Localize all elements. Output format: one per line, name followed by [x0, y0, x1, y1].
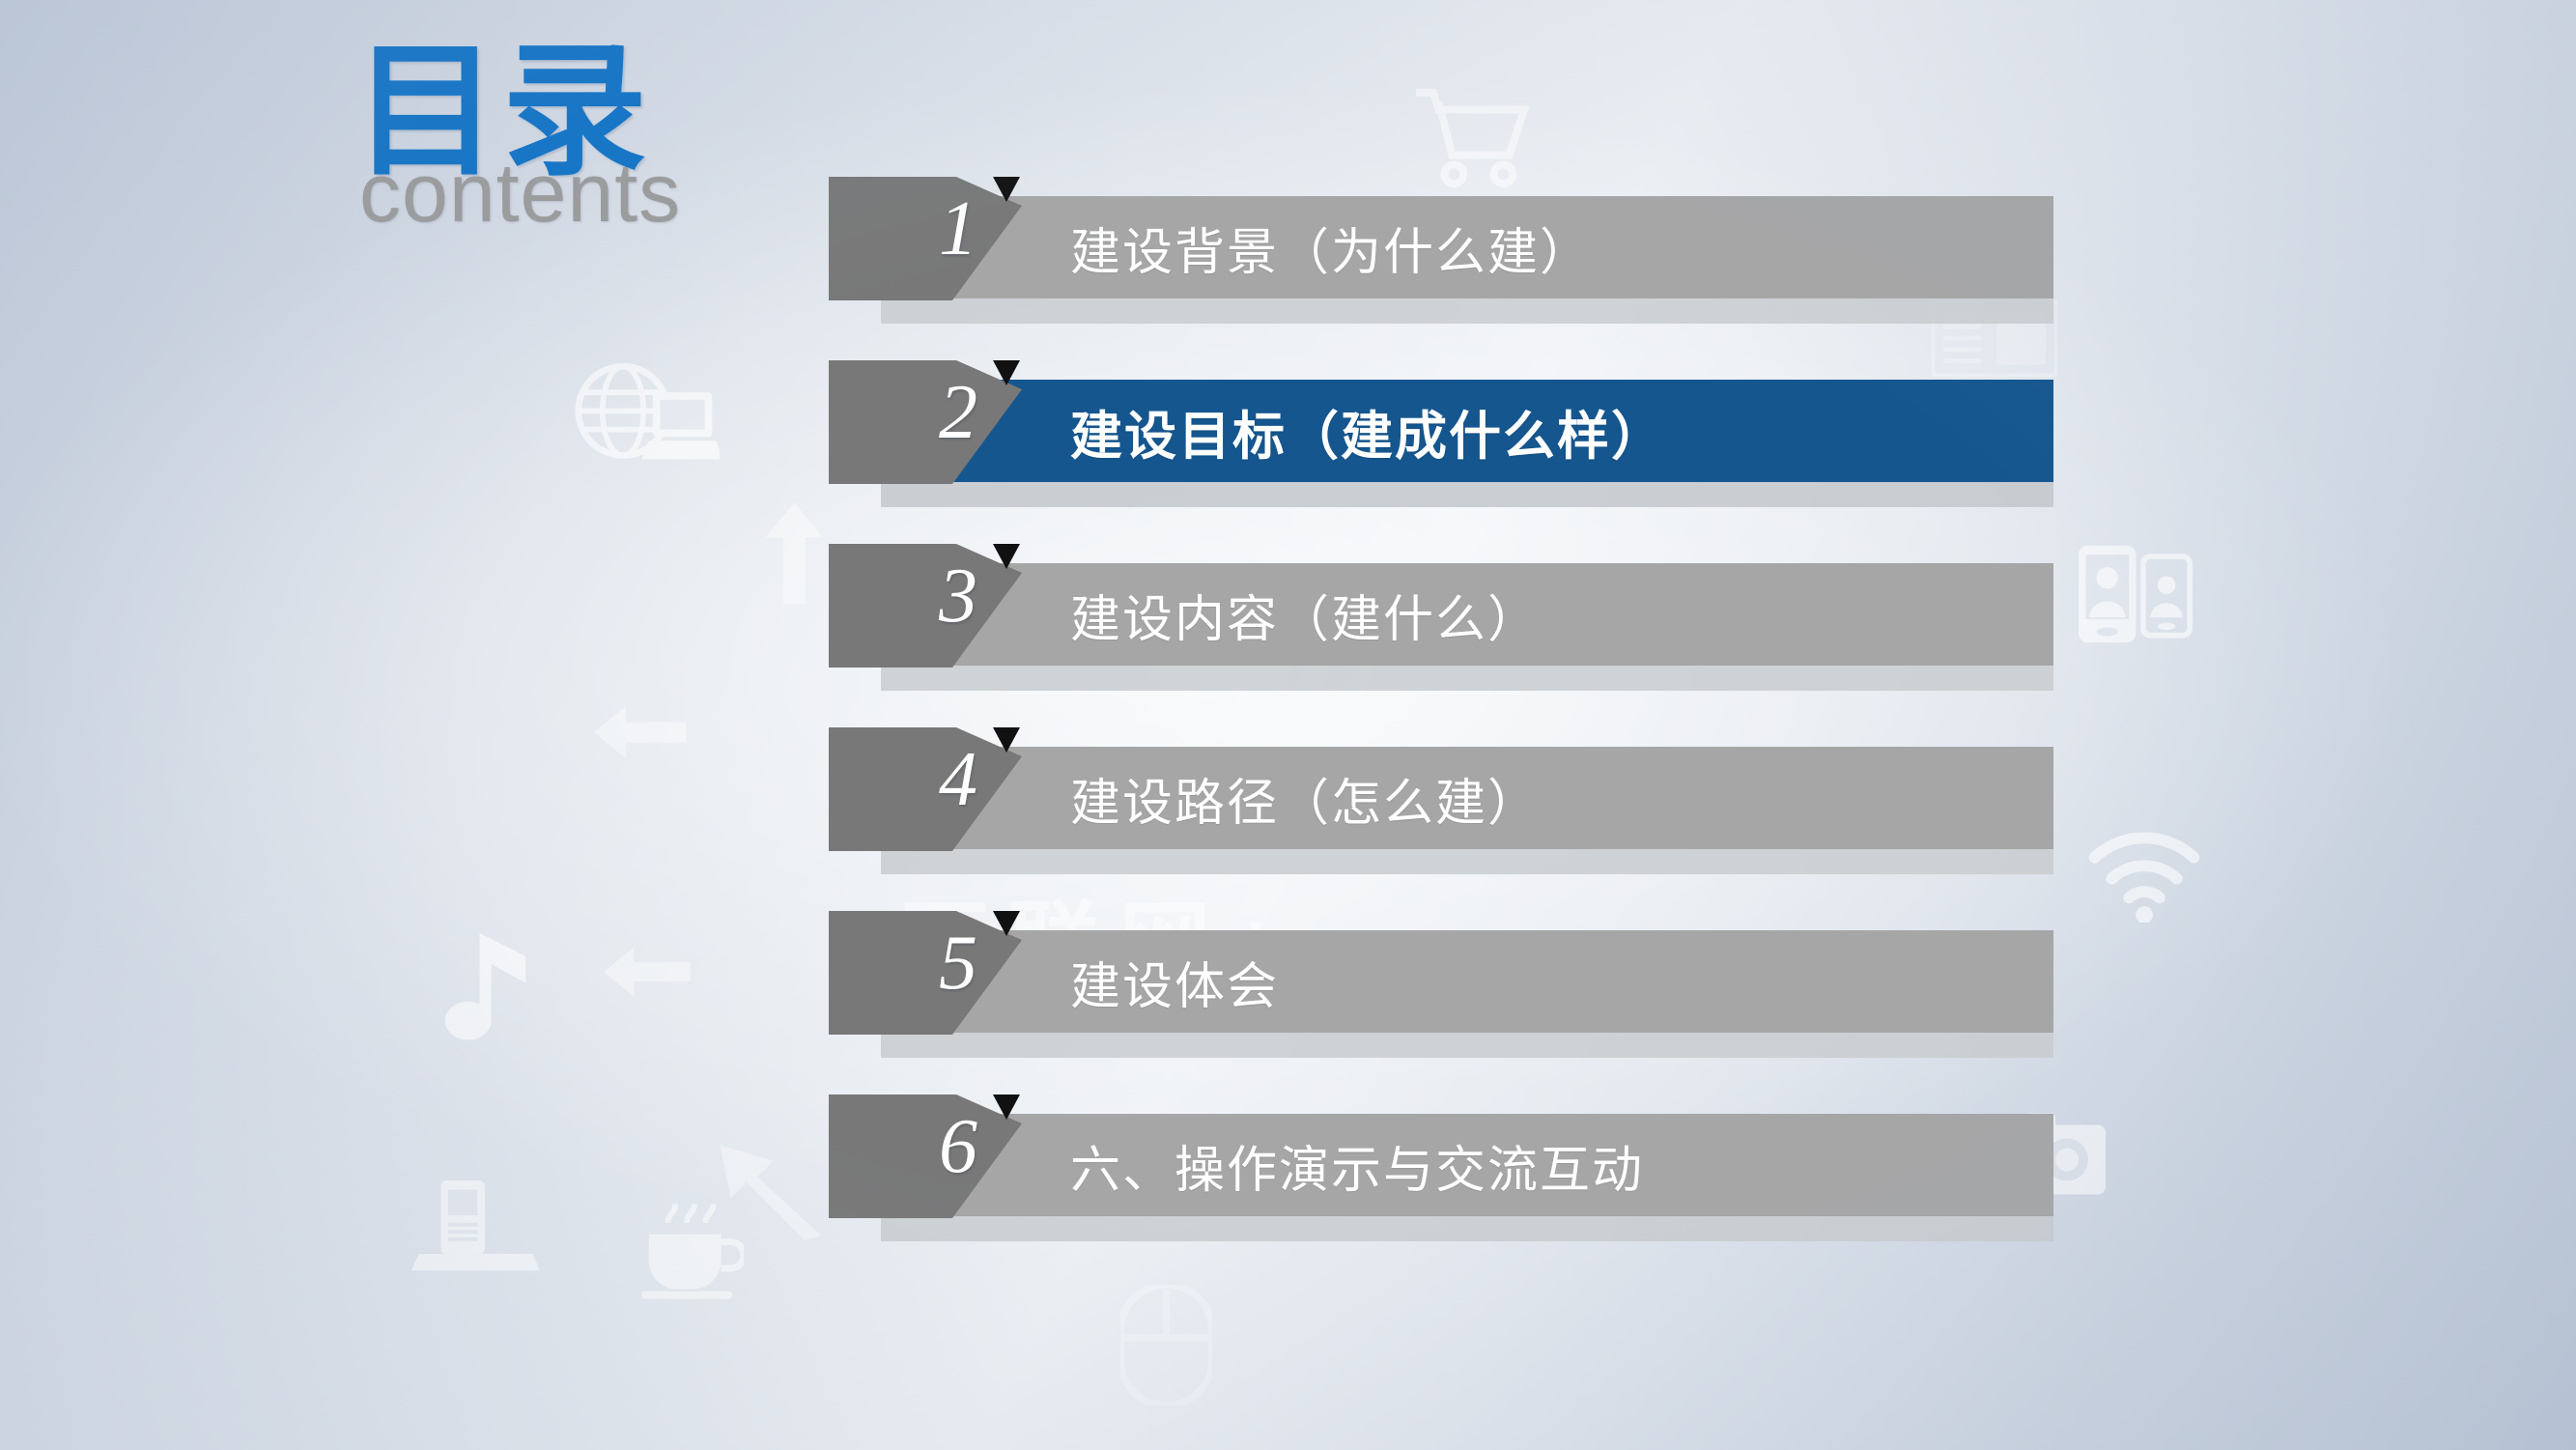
bar-shadow-strip [881, 1033, 2053, 1058]
contents-item-label: 建设体会 [1070, 946, 1279, 1018]
contents-item-label: 建设背景（为什么建） [1070, 212, 1592, 284]
title-english: contents [359, 158, 759, 230]
contents-item-label: 建设目标（建成什么样） [1070, 393, 1665, 469]
contents-list: 建设背景（为什么建）1建设目标（建成什么样）2建设内容（建什么）3建设路径（怎么… [850, 177, 2086, 1095]
contents-item-bar[interactable]: 建设背景（为什么建） [850, 196, 2053, 299]
triangle-notch-icon [993, 727, 1020, 753]
triangle-notch-icon [993, 911, 1020, 936]
mobile-phone-dock-icon [410, 1180, 541, 1272]
arrow-diagonal-icon [715, 1145, 821, 1246]
bar-shadow-strip [881, 299, 2053, 324]
contents-item-bar[interactable]: 建设目标（建成什么样） [850, 380, 2053, 482]
bar-shadow-strip [881, 482, 2053, 507]
triangle-notch-icon [993, 177, 1020, 202]
page-title: 目录 contents [354, 39, 759, 230]
contents-item-5[interactable]: 建设体会5 [850, 911, 2086, 1095]
arrow-left-icon [594, 705, 686, 759]
contents-item-bar[interactable]: 建设内容（建什么） [850, 563, 2053, 666]
triangle-notch-icon [993, 1095, 1020, 1120]
contents-item-bar[interactable]: 建设路径（怎么建） [850, 747, 2053, 849]
contents-item-bar[interactable]: 六、操作演示与交流互动 [850, 1114, 2053, 1216]
wifi-icon [2086, 831, 2202, 923]
triangle-notch-icon [993, 544, 1020, 569]
contents-item-4[interactable]: 建设路径（怎么建）4 [850, 727, 2086, 911]
slide-canvas: 互联网+ [0, 0, 2576, 1450]
globe-laptop-icon [575, 362, 720, 478]
music-note-icon [437, 925, 538, 1056]
video-call-phones-icon [2079, 541, 2204, 647]
contents-item-1[interactable]: 建设背景（为什么建）1 [850, 177, 2086, 360]
arrow-left-icon [604, 947, 691, 997]
bar-shadow-strip [881, 1216, 2053, 1241]
computer-mouse-icon [1120, 1285, 1212, 1406]
bar-shadow-strip [881, 666, 2053, 691]
shopping-cart-icon [1410, 85, 1536, 191]
bar-shadow-strip [881, 849, 2053, 874]
contents-item-2[interactable]: 建设目标（建成什么样）2 [850, 360, 2086, 544]
contents-item-bar[interactable]: 建设体会 [850, 930, 2053, 1033]
contents-item-label: 建设内容（建什么） [1070, 579, 1540, 651]
contents-item-3[interactable]: 建设内容（建什么）3 [850, 544, 2086, 727]
contents-item-label: 六、操作演示与交流互动 [1070, 1129, 1644, 1202]
arrow-up-icon [753, 502, 835, 604]
triangle-notch-icon [993, 360, 1020, 385]
contents-item-label: 建设路径（怎么建） [1070, 762, 1540, 835]
